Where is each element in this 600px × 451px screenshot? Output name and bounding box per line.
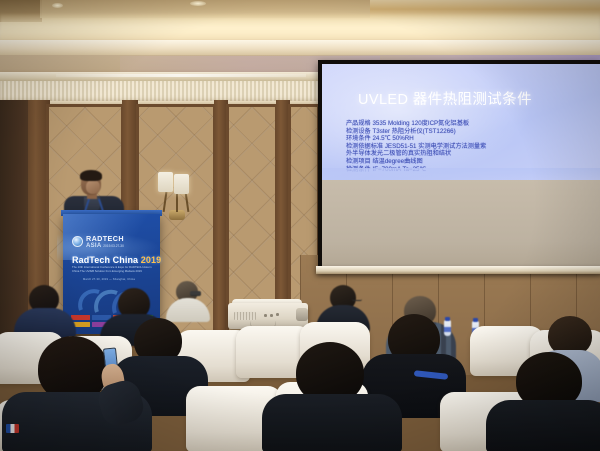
projection-screen: UVLED 器件热阻测试条件 产品规格 3535 Molding 120度ICP… — [322, 64, 600, 268]
logo-asia-word: ASIA — [86, 243, 101, 249]
bottle-cap — [445, 317, 450, 321]
ceiling-downlight — [52, 3, 63, 8]
screen-unlit-area — [322, 180, 600, 268]
cove-light-glow — [0, 14, 600, 40]
sconce-shade — [174, 174, 189, 194]
sponsor-chip — [71, 315, 90, 320]
projected-slide: UVLED 器件热阻测试条件 产品规格 3535 Molding 120度ICP… — [322, 64, 600, 180]
projector-vent — [234, 312, 256, 320]
attendee-shoulders — [262, 394, 402, 451]
attendee-shoulders — [486, 400, 600, 451]
banner-title-year: 2019 — [141, 255, 161, 265]
globe-icon — [72, 236, 83, 247]
banner-date: March 27-30, 2019 — Shanghai, China — [83, 278, 135, 281]
logo-asia-tag: 2019.03.27-30 — [103, 244, 124, 248]
bottle-label — [444, 327, 451, 332]
banner-title-main: RadTech China — [72, 255, 138, 265]
flag-pin — [6, 424, 19, 433]
projector-button — [264, 314, 267, 317]
banner-title: RadTech China 2019 — [72, 255, 161, 265]
slide-line: 外半导体发光二极管的真实热阻和结状 — [346, 150, 596, 158]
slide-line: 环境条件 24.5℃ 50%RH — [346, 135, 596, 143]
projector-button — [270, 314, 273, 317]
ceiling-downlight — [190, 1, 206, 6]
logo-radtech-text: RADTECH — [86, 235, 124, 243]
radtech-logo: RADTECH ASIA 2019.03.27-30 — [72, 235, 124, 249]
sunglasses-icon — [190, 291, 201, 296]
logo-asia-text: ASIA 2019.03.27-30 — [86, 243, 124, 249]
projector-button — [276, 313, 279, 316]
eyeglasses-icon — [352, 297, 362, 301]
speaker-face — [86, 180, 100, 194]
slide-line: 产品规格 3535 Molding 120度ICP氮化铝基板 — [346, 120, 596, 128]
screen-bottom-bar — [316, 266, 600, 274]
slide-body: 产品规格 3535 Molding 120度ICP氮化铝基板 检测设备 T3st… — [346, 120, 596, 173]
bottle-cap — [473, 318, 478, 322]
speaker-hair — [80, 170, 102, 181]
slide-title: UVLED 器件热阻测试条件 — [358, 88, 532, 109]
banner-subtitle: The 13th International Conference & Expo… — [72, 266, 156, 273]
ledge-light-strip — [56, 74, 306, 77]
conference-photo-scene: UVLED 器件热阻测试条件 产品规格 3535 Molding 120度ICP… — [0, 0, 600, 451]
crown-molding — [0, 40, 600, 55]
slide-line: 检测项目 结温degree曲线图 — [346, 158, 596, 166]
projector-lens — [296, 308, 308, 321]
sconce-shade — [158, 172, 173, 192]
water-bottle — [444, 320, 451, 336]
